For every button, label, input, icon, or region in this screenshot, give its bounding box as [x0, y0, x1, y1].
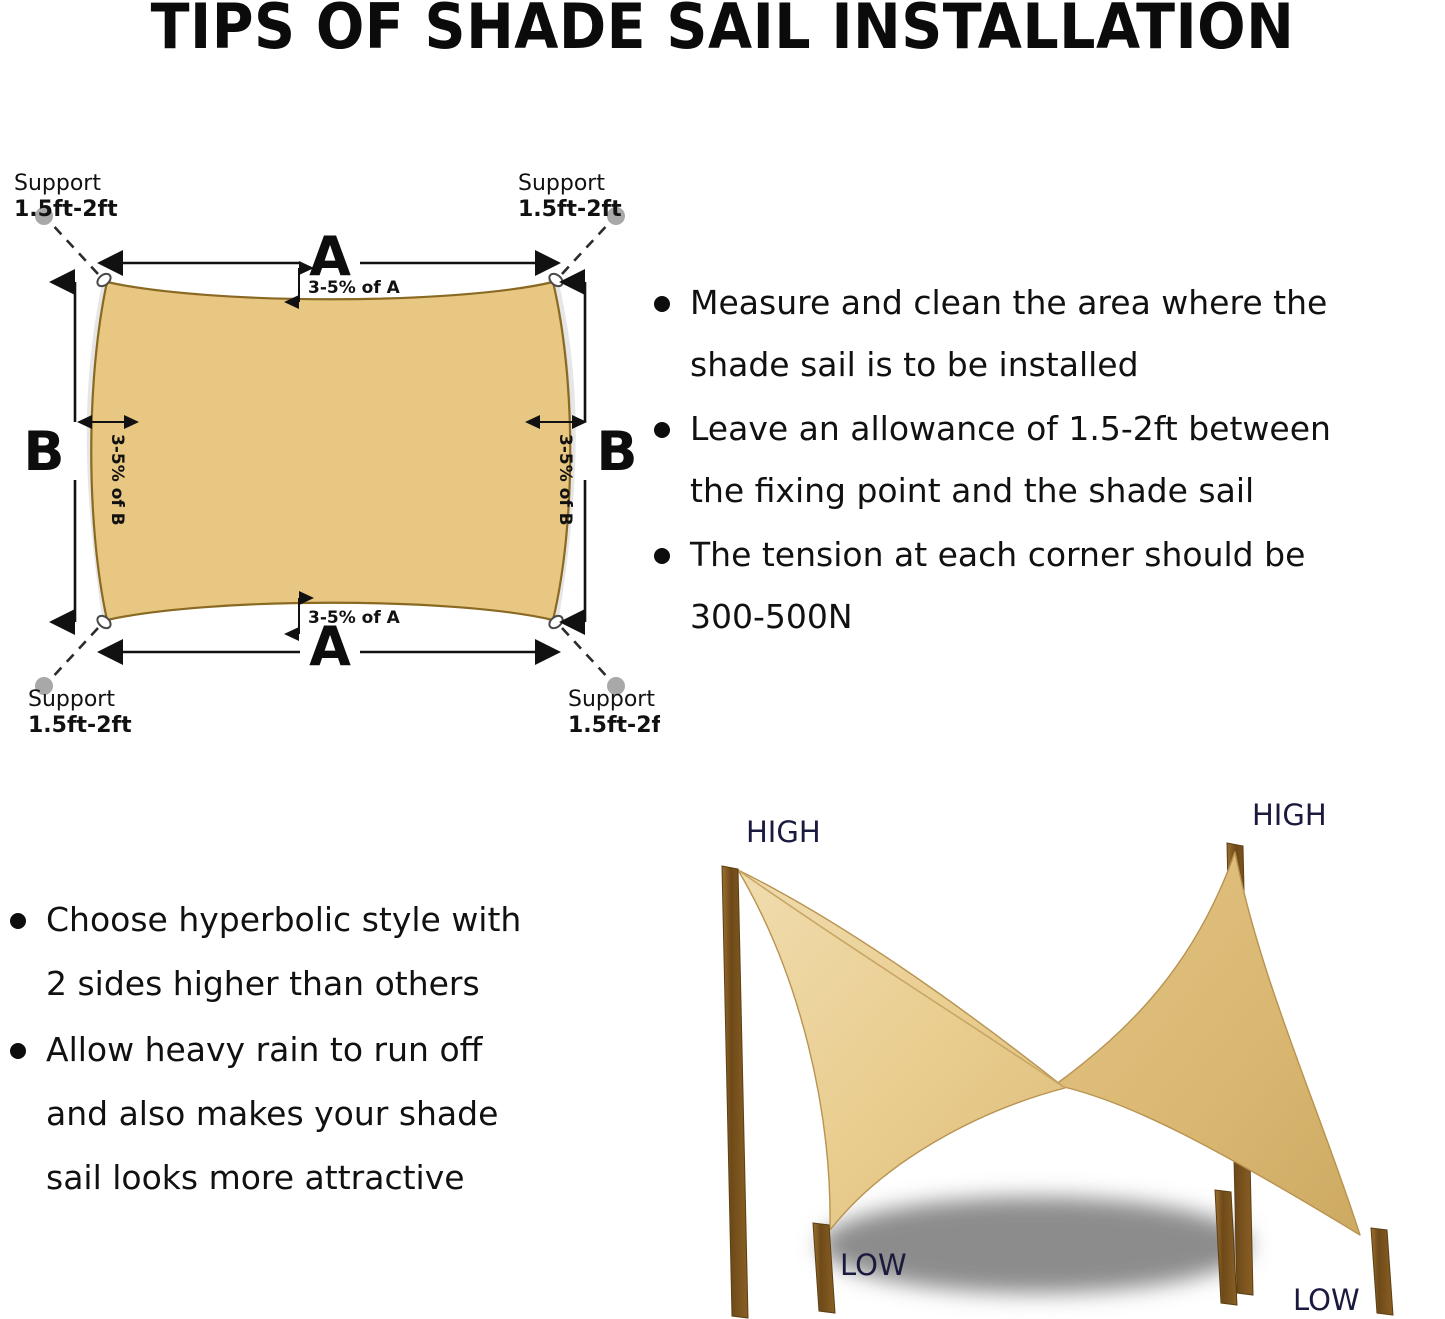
tip-line: Leave an allowance of 1.5-2ft between — [690, 409, 1331, 448]
tip-line: 300-500N — [690, 597, 853, 636]
tips-list-right: Measure and clean the area where the sha… — [648, 272, 1445, 650]
bullet-icon — [654, 548, 670, 564]
support-label-line2: 1.5ft-2ft — [28, 713, 132, 738]
bullet-icon — [10, 1043, 26, 1059]
support-label-line1: Support — [518, 171, 605, 196]
rectangular-sail-diagram: A A B B 3-5% of A 3-5% of A 3-5% of B 3-… — [0, 160, 660, 740]
support-post — [1215, 1190, 1237, 1305]
tip-line: the fixing point and the shade sail — [690, 471, 1254, 510]
support-label-line2: 1.5ft-2ft — [568, 713, 660, 738]
label-low-left: LOW — [840, 1248, 907, 1282]
tip-line: Allow heavy rain to run off — [46, 1030, 482, 1069]
curve-depth-label-a-top: 3-5% of A — [308, 278, 401, 298]
bullet-icon — [654, 296, 670, 312]
tip-line: sail looks more attractive — [46, 1158, 465, 1197]
list-item: Measure and clean the area where the sha… — [648, 272, 1445, 396]
support-label-line2: 1.5ft-2ft — [518, 197, 622, 222]
sail-panel-left — [738, 870, 1065, 1230]
tip-line: and also makes your shade — [46, 1094, 498, 1133]
support-label-top-left: Support 1.5ft-2ft — [14, 171, 118, 222]
list-item: The tension at each corner should be 300… — [648, 524, 1445, 648]
support-label-bottom-left: Support 1.5ft-2ft — [28, 687, 132, 738]
support-post — [722, 866, 748, 1318]
support-label-line1: Support — [14, 171, 101, 196]
support-label-line1: Support — [568, 687, 655, 712]
label-low-right: LOW — [1293, 1283, 1360, 1317]
dimension-label-b-right: B — [596, 420, 637, 483]
tip-line: 2 sides higher than others — [46, 964, 480, 1003]
curve-depth-label-b-right: 3-5% of B — [555, 434, 575, 526]
support-label-top-right: Support 1.5ft-2ft — [518, 171, 622, 222]
support-label-bottom-right: Support 1.5ft-2ft — [568, 687, 660, 738]
sail-panel-right — [1055, 852, 1360, 1235]
label-high-left: HIGH — [746, 815, 821, 849]
tip-line: Measure and clean the area where the — [690, 283, 1327, 322]
hyperbolic-sail-diagram: HIGH HIGH LOW LOW — [660, 780, 1445, 1319]
bullet-icon — [654, 422, 670, 438]
curve-depth-label-b-left: 3-5% of B — [107, 434, 127, 526]
tip-line: Choose hyperbolic style with — [46, 900, 521, 939]
tip-line: The tension at each corner should be — [690, 535, 1305, 574]
list-item: Choose hyperbolic style with 2 sides hig… — [2, 888, 622, 1016]
curve-depth-label-a-bottom: 3-5% of A — [308, 608, 401, 628]
tips-list: Choose hyperbolic style with 2 sides hig… — [2, 888, 622, 1210]
shade-sail-shape — [91, 282, 570, 620]
dimension-label-b-left: B — [23, 420, 64, 483]
support-post — [1371, 1228, 1393, 1315]
label-high-right: HIGH — [1252, 798, 1327, 832]
page-title: TIPS OF SHADE SAIL INSTALLATION — [58, 0, 1387, 59]
tip-line: shade sail is to be installed — [690, 345, 1139, 384]
list-item: Leave an allowance of 1.5-2ft between th… — [648, 398, 1445, 522]
bullet-icon — [10, 913, 26, 929]
list-item: Allow heavy rain to run off and also mak… — [2, 1018, 622, 1210]
tips-list-bottom-left: Choose hyperbolic style with 2 sides hig… — [2, 888, 622, 1212]
support-label-line2: 1.5ft-2ft — [14, 197, 118, 222]
tips-list: Measure and clean the area where the sha… — [648, 272, 1445, 648]
support-label-line1: Support — [28, 687, 115, 712]
